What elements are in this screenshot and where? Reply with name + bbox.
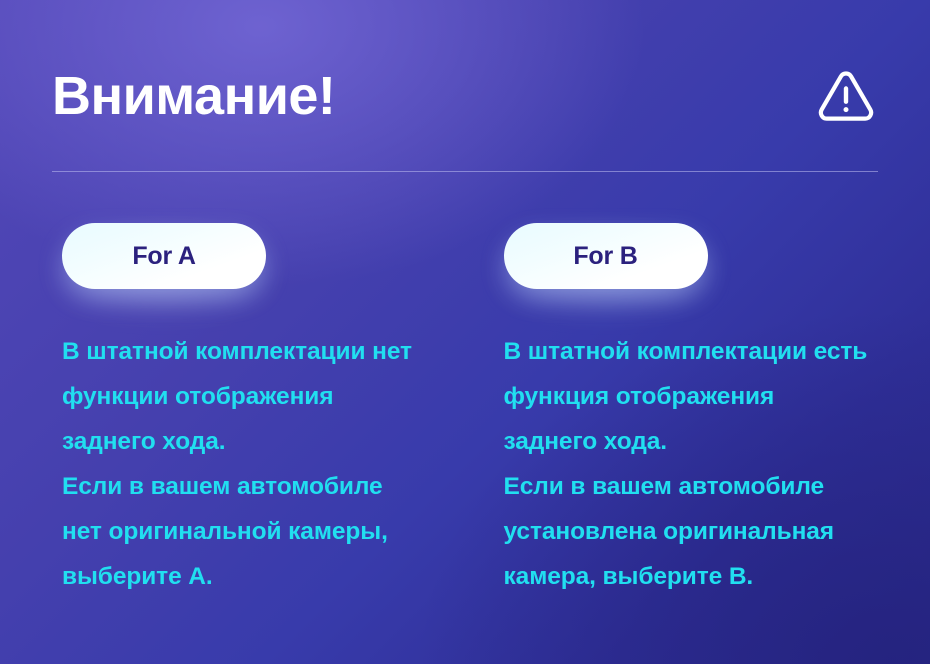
- for-a-description-2: Если в вашем автомобиле нет оригинальной…: [62, 464, 427, 599]
- page-title: Внимание!: [52, 69, 335, 123]
- option-column-for-a: For A В штатной комплектации нет функции…: [62, 223, 427, 599]
- warning-triangle-icon: [814, 64, 878, 128]
- for-a-button-wrapper: For A: [62, 223, 266, 289]
- option-column-for-b: For B В штатной комплектации есть функци…: [504, 223, 869, 599]
- warning-slide: Внимание! For A В штатной комплектации н…: [0, 0, 930, 664]
- for-a-description-1: В штатной комплектации нет функции отобр…: [62, 329, 427, 464]
- for-b-description-1: В штатной комплектации есть функция отоб…: [504, 329, 869, 464]
- for-b-button[interactable]: For B: [504, 223, 708, 289]
- for-b-description-2: Если в вашем автомобиле установлена ориг…: [504, 464, 869, 599]
- for-b-button-label: For B: [573, 244, 637, 269]
- for-b-button-wrapper: For B: [504, 223, 708, 289]
- for-a-button[interactable]: For A: [62, 223, 266, 289]
- header-divider: [52, 171, 878, 172]
- options-container: For A В штатной комплектации нет функции…: [62, 223, 868, 599]
- slide-header: Внимание!: [52, 48, 878, 144]
- for-a-button-label: For A: [132, 244, 195, 269]
